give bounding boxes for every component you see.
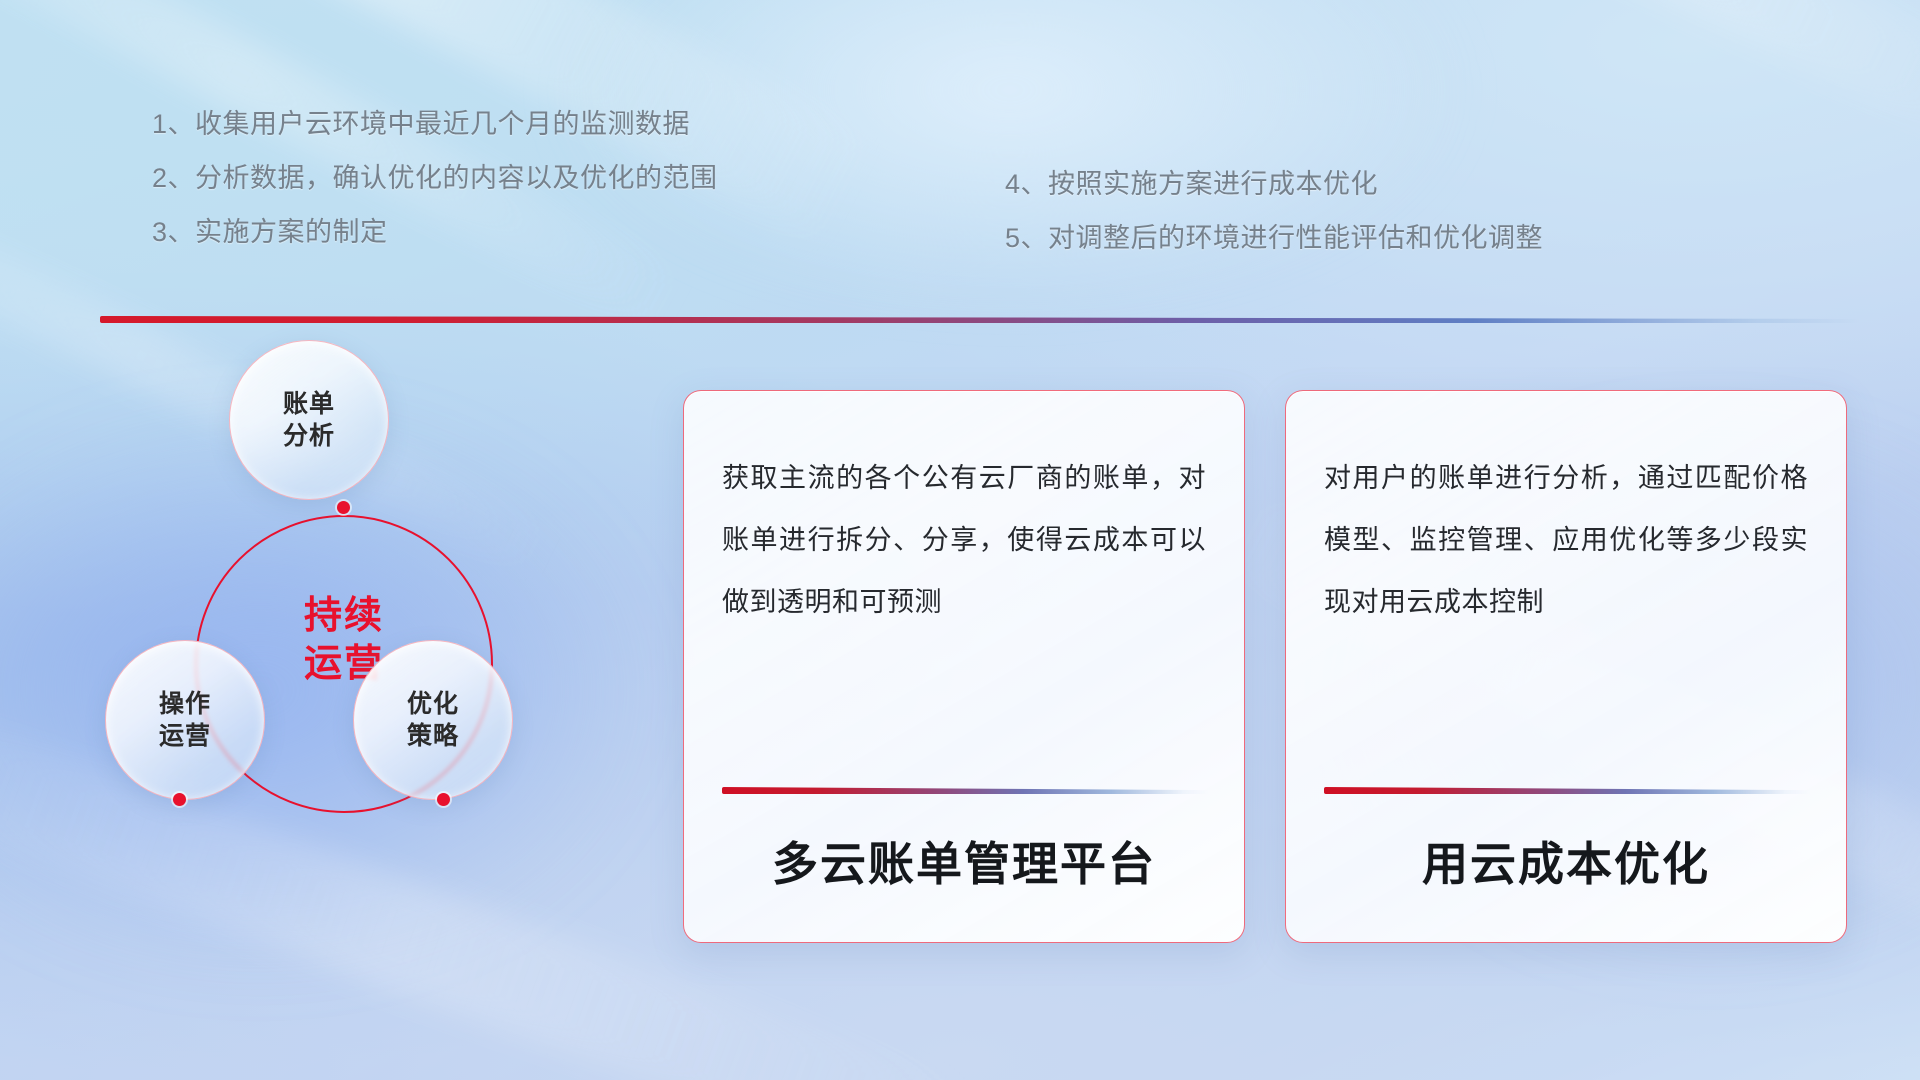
step-item: 5、对调整后的环境进行性能评估和优化调整 [1005,211,1543,265]
bubble-label-line2: 分析 [283,420,335,452]
step-item: 2、分析数据，确认优化的内容以及优化的范围 [152,151,718,205]
center-label-line1: 持续 [195,593,493,641]
node-dot-right-icon [437,793,450,806]
card-accent-rule [1324,787,1810,794]
bubble-label-line2: 策略 [407,720,459,752]
node-dot-top-icon [337,501,350,514]
card-body: 对用户的账单进行分析，通过匹配价格模型、监控管理、应用优化等多少段实现对用云成本… [1324,447,1808,633]
card-title: 多云账单管理平台 [684,828,1244,894]
bubble-label: 操作 运营 [159,688,211,752]
step-item: 4、按照实施方案进行成本优化 [1005,157,1543,211]
node-dot-left-icon [173,793,186,806]
card-body: 获取主流的各个公有云厂商的账单，对账单进行拆分、分享，使得云成本可以做到透明和可… [722,447,1206,633]
bubble-label-line1: 账单 [283,388,335,420]
step-item: 3、实施方案的制定 [152,205,718,259]
bubble-label: 账单 分析 [283,388,335,452]
steps-right-column: 4、按照实施方案进行成本优化 5、对调整后的环境进行性能评估和优化调整 [1005,157,1543,265]
card-multi-cloud-bill-platform[interactable]: 获取主流的各个公有云厂商的账单，对账单进行拆分、分享，使得云成本可以做到透明和可… [683,390,1245,943]
steps-left-column: 1、收集用户云环境中最近几个月的监测数据 2、分析数据，确认优化的内容以及优化的… [152,97,718,259]
bubble-optimize-strategy[interactable]: 优化 策略 [353,640,513,800]
bubble-operation-ops[interactable]: 操作 运营 [105,640,265,800]
bubble-label-line2: 运营 [159,720,211,752]
bubble-label-line1: 操作 [159,688,211,720]
card-cloud-cost-optimization[interactable]: 对用户的账单进行分析，通过匹配价格模型、监控管理、应用优化等多少段实现对用云成本… [1285,390,1847,943]
bubble-label-line1: 优化 [407,688,459,720]
continuous-operation-diagram: 持续 运营 账单 分析 操作 运营 优化 策略 [95,355,565,915]
step-item: 1、收集用户云环境中最近几个月的监测数据 [152,97,718,151]
bubble-label: 优化 策略 [407,688,459,752]
card-title: 用云成本优化 [1286,828,1846,894]
card-accent-rule [722,787,1208,794]
bubble-bill-analysis[interactable]: 账单 分析 [229,340,389,500]
